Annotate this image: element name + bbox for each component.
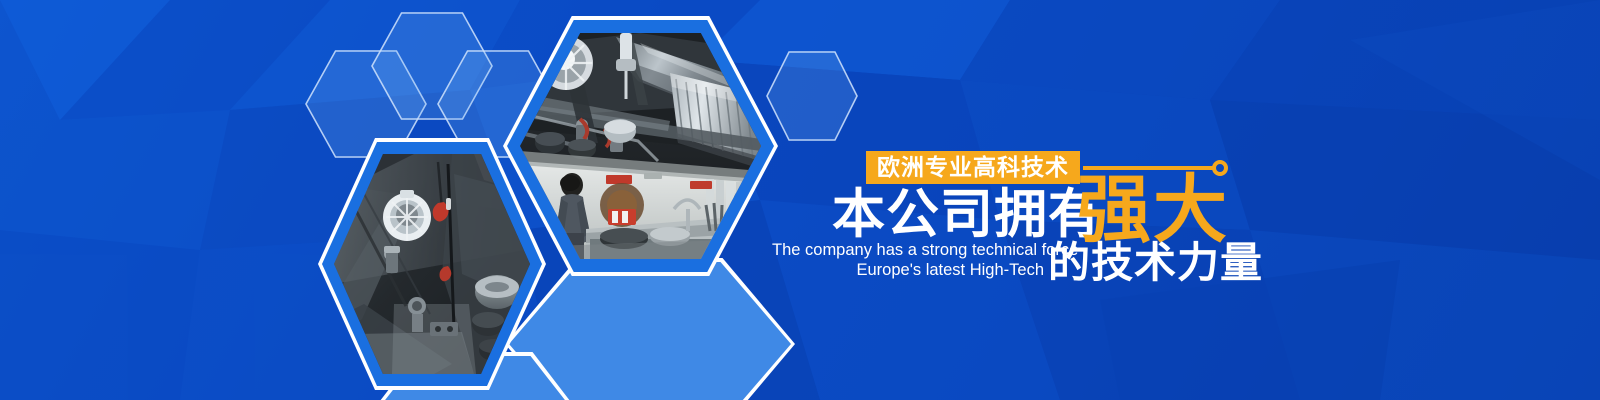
headline-sub-text: 的技术力量 [1048,239,1263,287]
subtitle-english-line1: The company has a strong technical force [772,240,1044,260]
headline-main-text: 本公司拥有 [832,185,1102,245]
photo-hex-kitchen-ventilation [503,16,778,276]
subtitle-english: The company has a strong technical force… [772,240,1044,280]
promo-banner: 欧洲专业高科技术 本公司拥有 强大 The company has a stro… [0,0,1600,400]
tagline-badge: 欧洲专业高科技术 [866,151,1080,184]
headline-accent-text: 强大 [1077,170,1229,250]
hexagon-outline-right [766,51,858,141]
tagline-badge-row: 欧洲专业高科技术 [866,151,1080,184]
banner-copy-block: 欧洲专业高科技术 本公司拥有 强大 The company has a stro… [772,140,1292,300]
subtitle-english-line2: Europe's latest High-Tech [772,260,1044,280]
